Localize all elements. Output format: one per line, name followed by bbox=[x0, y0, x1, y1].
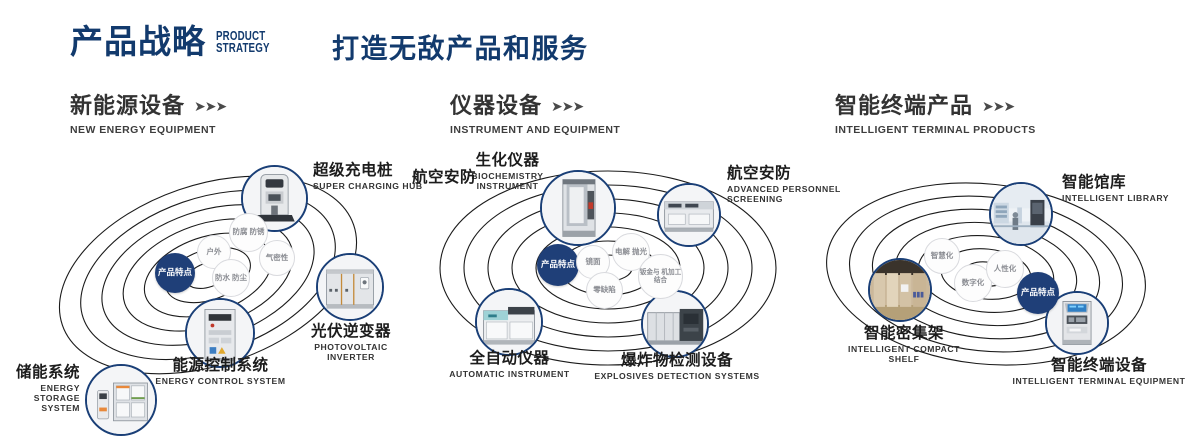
feature-bubble-smart[interactable]: 智慧化 bbox=[924, 238, 960, 274]
node-label-en: ENERGY STORAGE SYSTEM bbox=[0, 384, 80, 413]
label-aviation-security-left: 航空安防 bbox=[412, 169, 502, 189]
explosives-detector-icon bbox=[643, 292, 707, 356]
section-title-cn: 智能终端产品 bbox=[835, 95, 973, 117]
node-explosives-detection[interactable] bbox=[641, 290, 709, 358]
label-automatic-instrument: 全自动仪器 AUTOMATIC INSTRUMENT bbox=[417, 350, 602, 380]
node-intelligent-library[interactable] bbox=[989, 182, 1053, 246]
node-automatic-instrument[interactable] bbox=[475, 288, 543, 356]
page-title-cn: 产品战略 bbox=[70, 25, 206, 58]
chevron-right-icon: ➤➤➤ bbox=[551, 99, 583, 113]
node-label-cn: 智能密集架 bbox=[825, 325, 983, 342]
feature-bubble-main[interactable]: 产品特点 bbox=[1017, 272, 1059, 314]
feature-bubble-zero-defect[interactable]: 零缺陷 bbox=[586, 272, 623, 309]
node-label-en: ENERGY CONTROL SYSTEM bbox=[128, 377, 313, 387]
product-strategy-infographic: 产品战略 PRODUCT STRATEGY 打造无敌产品和服务 新能源设备 ➤➤… bbox=[0, 0, 1200, 422]
feature-bubble-main[interactable]: 产品特点 bbox=[537, 244, 579, 286]
node-label-cn: 智能馆库 bbox=[1062, 174, 1192, 191]
chevron-right-icon: ➤➤➤ bbox=[194, 99, 226, 113]
automatic-instrument-icon bbox=[477, 290, 541, 354]
section-title-cn: 仪器设备 bbox=[450, 95, 542, 117]
label-energy-storage: 储能系统 ENERGY STORAGE SYSTEM bbox=[0, 364, 80, 413]
node-advanced-personnel-screening[interactable] bbox=[657, 183, 721, 247]
section-title-new-energy: 新能源设备 ➤➤➤ NEW ENERGY EQUIPMENT bbox=[70, 95, 226, 136]
page-header: 产品战略 PRODUCT STRATEGY bbox=[70, 25, 285, 58]
label-intelligent-library: 智能馆库 INTELLIGENT LIBRARY bbox=[1062, 174, 1192, 204]
node-label-cn: 航空安防 bbox=[412, 169, 502, 186]
node-label-en: EXPLOSIVES DETECTION SYSTEMS bbox=[582, 372, 772, 382]
feature-bubble-sheetmetal-machining[interactable]: 钣金与 机加工结合 bbox=[638, 254, 683, 299]
section-title-en: NEW ENERGY EQUIPMENT bbox=[70, 124, 226, 136]
node-photovoltaic-inverter[interactable] bbox=[316, 253, 384, 321]
page-title-en: PRODUCT STRATEGY bbox=[216, 30, 270, 59]
section-title-en: INTELLIGENT TERMINAL PRODUCTS bbox=[835, 124, 1036, 136]
node-label-cn: 智能终端设备 bbox=[998, 357, 1200, 374]
cluster-intelligent: 智能馆库 INTELLIGENT LIBRARY 智能密集架 INTELLIGE… bbox=[790, 150, 1200, 400]
screening-machine-icon bbox=[659, 185, 719, 245]
node-label-en: INTELLIGENT COMPACT SHELF bbox=[825, 345, 983, 364]
section-title-instrument: 仪器设备 ➤➤➤ INSTRUMENT AND EQUIPMENT bbox=[450, 95, 620, 136]
label-intelligent-compact-shelf: 智能密集架 INTELLIGENT COMPACT SHELF bbox=[825, 325, 983, 365]
node-label-cn: 生化仪器 bbox=[420, 152, 595, 169]
cluster-instrument: 生化仪器 BIOCHEMISTRY INSTRUMENT 航空安防 航空安防 A… bbox=[400, 150, 820, 400]
node-label-cn: 光伏逆变器 bbox=[292, 323, 410, 340]
library-room-icon bbox=[991, 184, 1051, 244]
section-title-en: INSTRUMENT AND EQUIPMENT bbox=[450, 124, 620, 136]
label-intelligent-terminal-equipment: 智能终端设备 INTELLIGENT TERMINAL EQUIPMENT bbox=[998, 357, 1200, 387]
chevron-right-icon: ➤➤➤ bbox=[982, 99, 1014, 113]
feature-bubble-waterproof[interactable]: 防水 防尘 bbox=[212, 259, 250, 297]
cluster-new-energy: 储能系统 ENERGY STORAGE SYSTEM 超级充电桩 SUPER C… bbox=[0, 150, 420, 400]
section-title-intelligent: 智能终端产品 ➤➤➤ INTELLIGENT TERMINAL PRODUCTS bbox=[835, 95, 1036, 136]
node-label-cn: 全自动仪器 bbox=[417, 350, 602, 367]
label-explosives-detection: 爆炸物检测设备 EXPLOSIVES DETECTION SYSTEMS bbox=[582, 352, 772, 382]
node-label-cn: 爆炸物检测设备 bbox=[582, 352, 772, 369]
feature-bubble-main[interactable]: 产品特点 bbox=[155, 253, 195, 293]
label-energy-control-system: 能源控制系统 ENERGY CONTROL SYSTEM bbox=[128, 357, 313, 387]
node-label-cn: 储能系统 bbox=[0, 364, 80, 381]
feature-bubble-humanized[interactable]: 人性化 bbox=[986, 250, 1024, 288]
node-label-en: AUTOMATIC INSTRUMENT bbox=[417, 370, 602, 380]
compact-shelf-icon bbox=[870, 260, 930, 320]
section-title-cn: 新能源设备 bbox=[70, 95, 185, 117]
node-intelligent-compact-shelf[interactable] bbox=[868, 258, 932, 322]
node-label-cn: 能源控制系统 bbox=[128, 357, 313, 374]
node-label-en: INTELLIGENT TERMINAL EQUIPMENT bbox=[998, 377, 1200, 387]
page-slogan: 打造无敌产品和服务 bbox=[332, 36, 589, 63]
inverter-cabinet-icon bbox=[318, 255, 382, 319]
node-label-en: INTELLIGENT LIBRARY bbox=[1062, 194, 1192, 204]
feature-bubble-airtight[interactable]: 气密性 bbox=[259, 240, 295, 276]
